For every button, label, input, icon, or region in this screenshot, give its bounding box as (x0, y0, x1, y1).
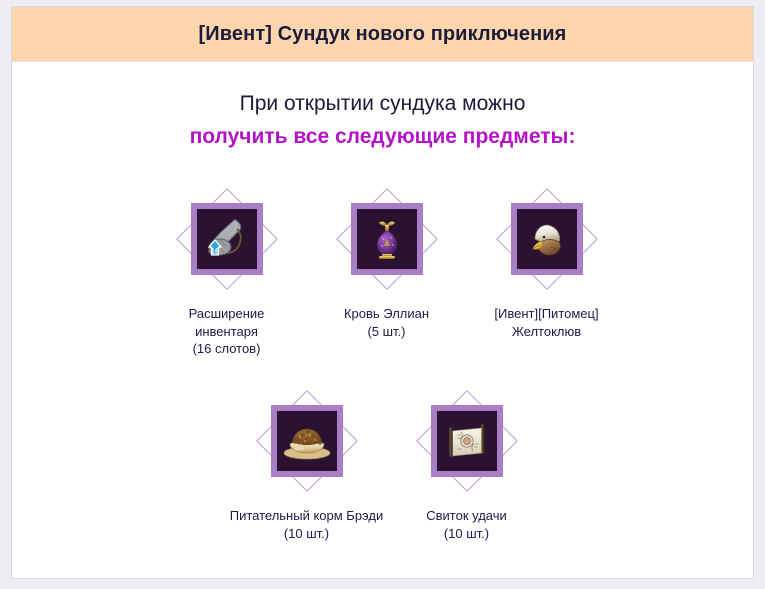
item-frame-wrap (412, 386, 522, 496)
item-frame: 16 (191, 203, 263, 275)
item-frame-wrap (492, 184, 602, 294)
item-label-line: Желтоклюв (494, 323, 598, 340)
item-label: [Ивент][Питомец] Желтоклюв (494, 305, 598, 340)
item-frame (351, 203, 423, 275)
item-label-line: (10 шт.) (426, 525, 507, 542)
pet-food-bowl-icon (277, 411, 337, 471)
item-frame (431, 405, 503, 477)
reward-row: Питательный корм Брэди (10 шт.) (12, 386, 753, 542)
card-header: [Ивент] Сундук нового приключения (12, 7, 753, 62)
item-label-line: (5 шт.) (344, 323, 429, 340)
luck-scroll-icon (437, 411, 497, 471)
intro-line-2: получить все следующие предметы: (12, 123, 753, 151)
reward-item[interactable]: Питательный корм Брэди (10 шт.) (227, 386, 387, 542)
event-reward-card: [Ивент] Сундук нового приключения При от… (11, 6, 754, 579)
reward-item[interactable]: Свиток удачи (10 шт.) (387, 386, 547, 542)
item-frame-wrap (332, 184, 442, 294)
item-label: Питательный корм Брэди (10 шт.) (230, 507, 384, 542)
item-label-line: инвентаря (189, 323, 265, 340)
item-label-line: Питательный корм Брэди (230, 507, 384, 524)
intro-text: При открытии сундука можно получить все … (12, 90, 753, 150)
item-label-line: Расширение (189, 305, 265, 322)
item-label-line: Свиток удачи (426, 507, 507, 524)
item-label: Свиток удачи (10 шт.) (426, 507, 507, 542)
item-frame (511, 203, 583, 275)
item-label: Расширение инвентаря (16 слотов) (189, 305, 265, 357)
item-frame-wrap (252, 386, 362, 496)
intro-line-1: При открытии сундука можно (12, 90, 753, 118)
ellian-blood-vial-icon (357, 209, 417, 269)
item-label-line: (16 слотов) (189, 340, 265, 357)
item-label-line: [Ивент][Питомец] (494, 305, 598, 322)
reward-grid: 16 Расширение инвентаря (16 слотов) (12, 184, 753, 541)
reward-item[interactable]: [Ивент][Питомец] Желтоклюв (467, 184, 627, 357)
slot-count-badge: 16 (197, 209, 257, 269)
item-frame (271, 405, 343, 477)
item-label: Кровь Эллиан (5 шт.) (344, 305, 429, 340)
card-body: При открытии сундука можно получить все … (12, 62, 753, 542)
reward-item[interactable]: Кровь Эллиан (5 шт.) (307, 184, 467, 357)
slot-count-badge-text: 16 (210, 247, 219, 256)
item-label-line: (10 шт.) (230, 525, 384, 542)
item-frame-wrap: 16 (172, 184, 282, 294)
page-title: [Ивент] Сундук нового приключения (199, 23, 567, 46)
item-label-line: Кровь Эллиан (344, 305, 429, 322)
yellowbeak-pet-icon (517, 209, 577, 269)
reward-row: 16 Расширение инвентаря (16 слотов) (12, 184, 753, 357)
reward-item[interactable]: 16 Расширение инвентаря (16 слотов) (147, 184, 307, 357)
